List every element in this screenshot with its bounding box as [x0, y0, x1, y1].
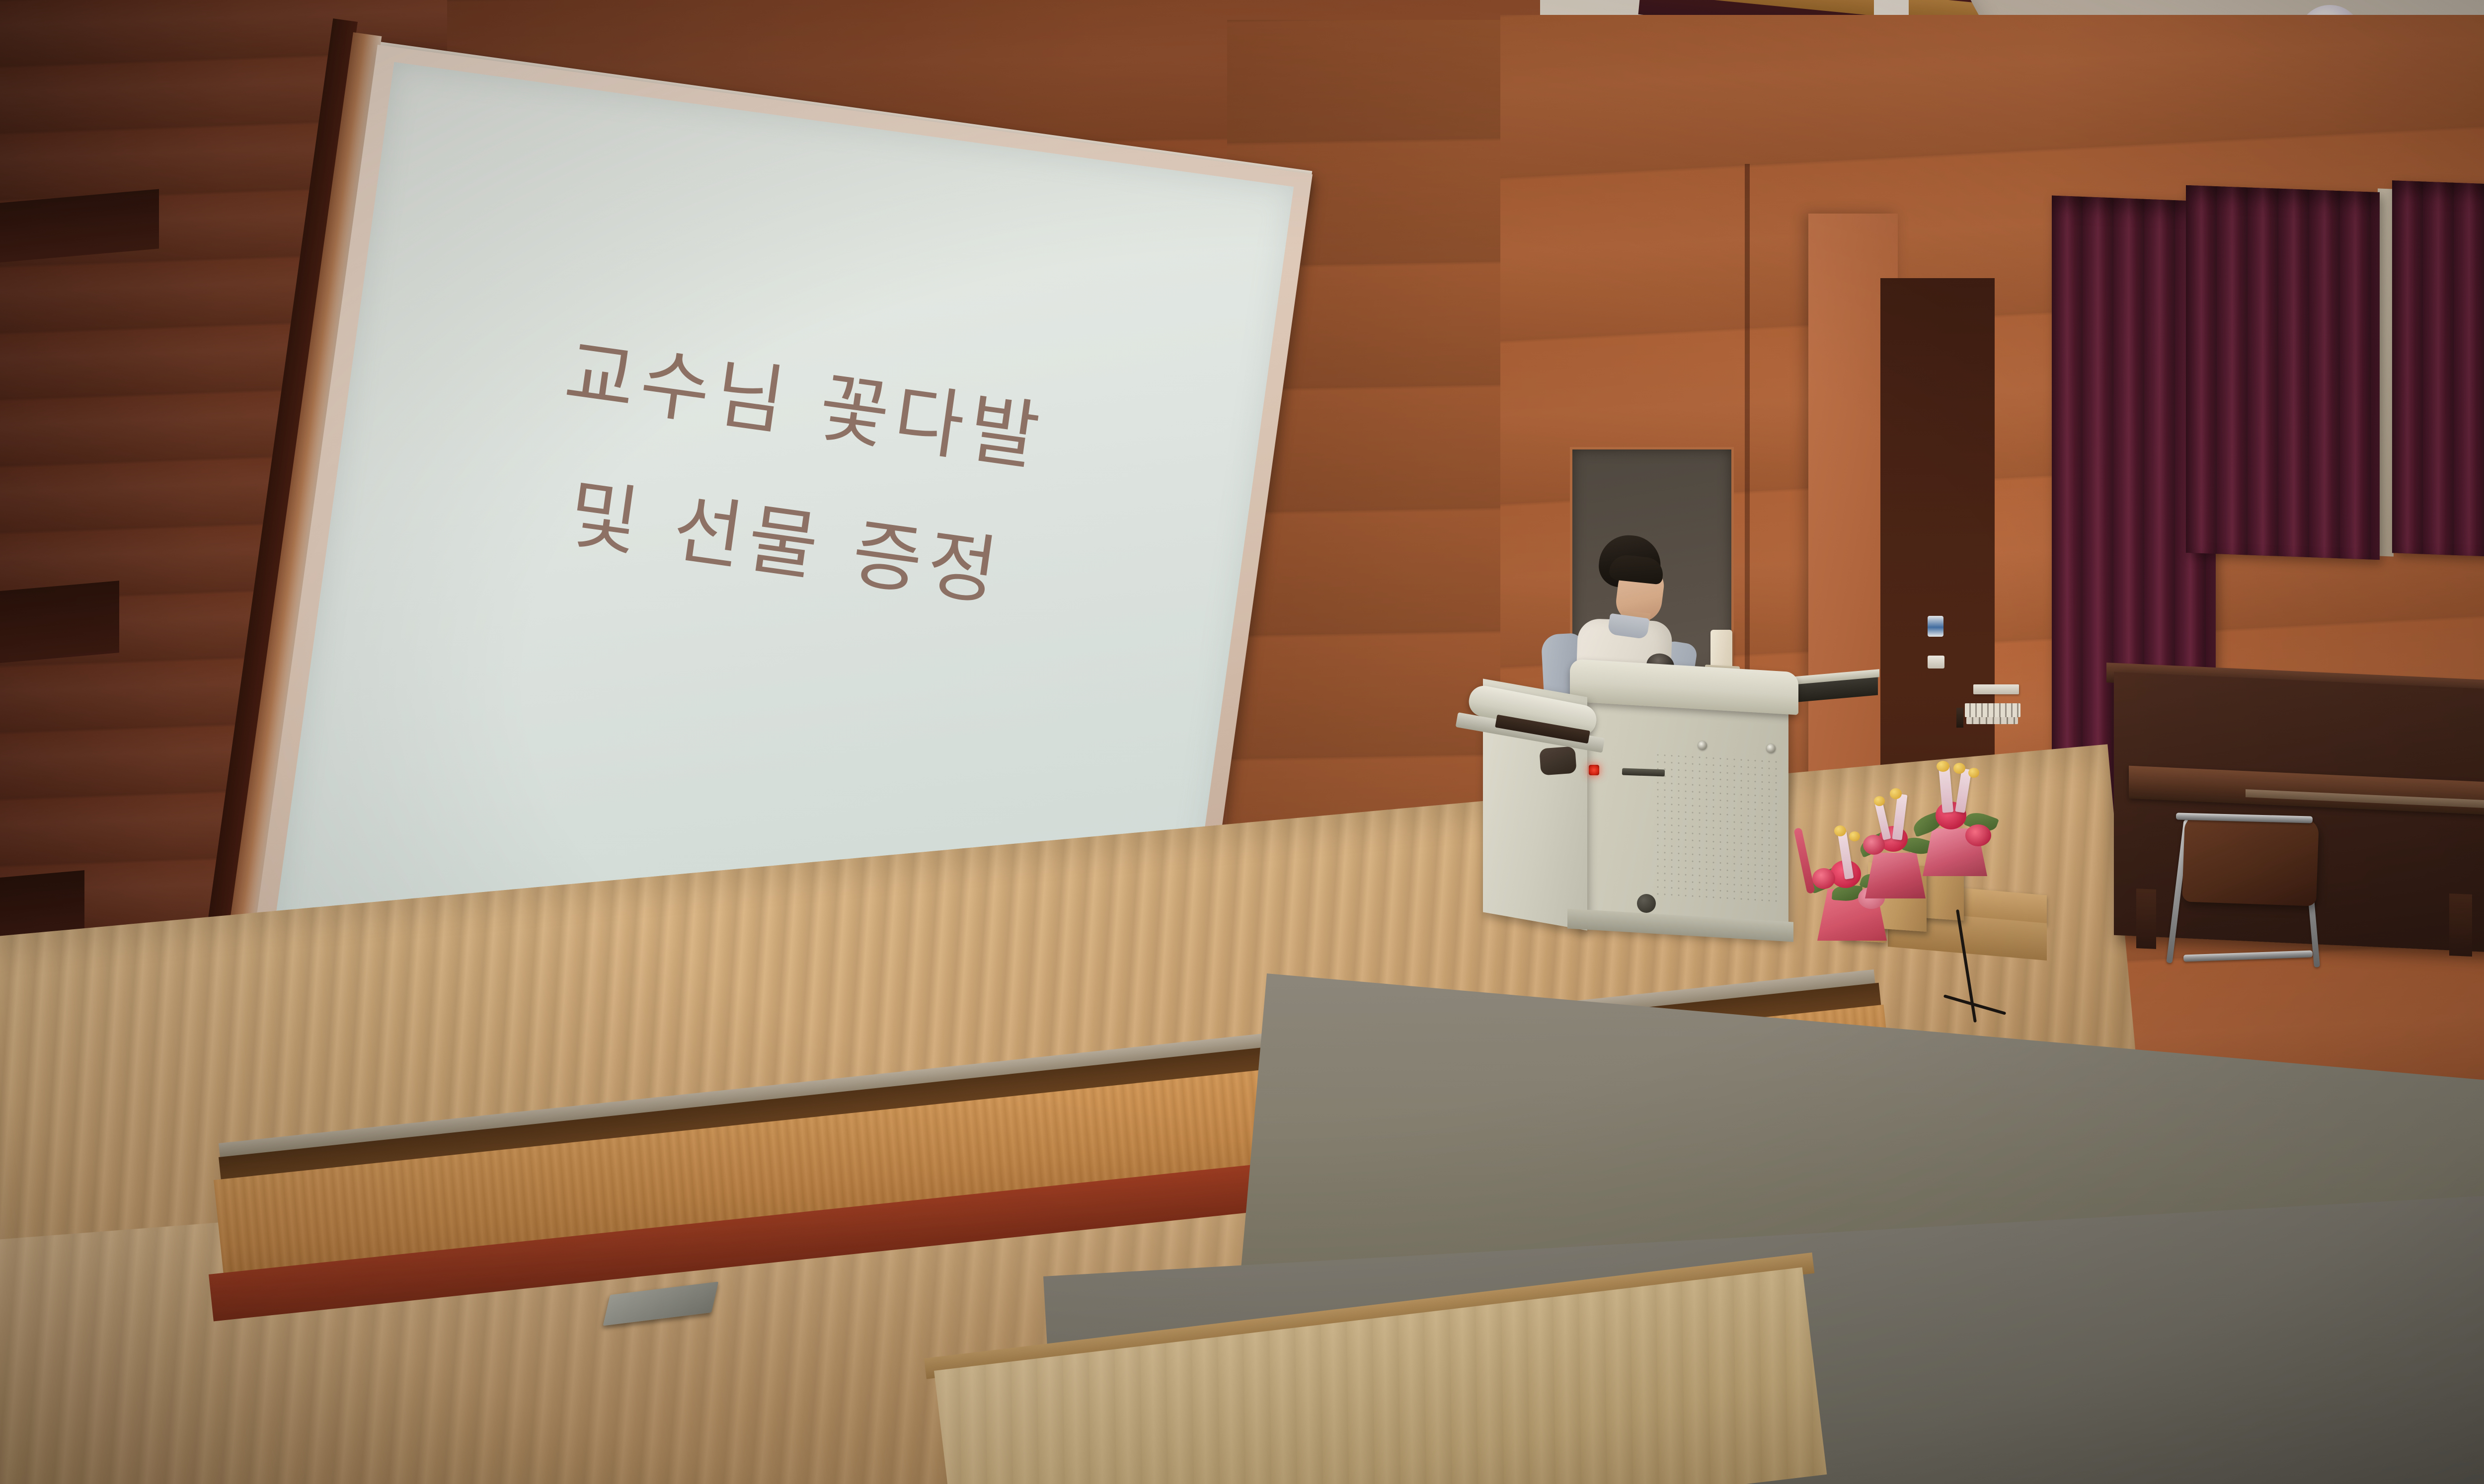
- light-switch-panel[interactable]: [1973, 684, 2019, 694]
- bouquet-flower: [1863, 835, 1885, 855]
- piano-chair[interactable]: [2182, 815, 2319, 906]
- piano-leg: [2449, 893, 2472, 957]
- piano-leg: [2136, 889, 2156, 949]
- bouquet-gold-tip: [1874, 796, 1885, 806]
- curtain-panel[interactable]: [2186, 185, 2380, 560]
- auditorium-photo-scene: 교수님 꽃다발 및 선물 증정: [0, 0, 2484, 1484]
- podium-screw-icon: [1767, 744, 1776, 753]
- flower-bouquet[interactable]: [1906, 760, 2010, 884]
- curtain-panel[interactable]: [2392, 180, 2484, 560]
- slide-text-block: 교수님 꽃다발 및 선물 증정: [326, 274, 1264, 675]
- light-switch-row[interactable]: [1966, 717, 2018, 724]
- podium-handle[interactable]: [1622, 768, 1665, 777]
- bouquet-flower: [1965, 824, 1991, 846]
- light-switch-row[interactable]: [1965, 703, 2020, 717]
- podium-knob[interactable]: [1637, 894, 1656, 913]
- water-bottle-icon[interactable]: [1710, 630, 1732, 668]
- bouquet-gold-tip: [1890, 788, 1902, 799]
- wall-recess-slot: [0, 870, 84, 938]
- power-indicator-led: [1589, 765, 1599, 775]
- bouquet-gold-tip: [1968, 768, 1979, 778]
- wall-sign-icon: [1928, 616, 1943, 637]
- wall-recess-slot: [0, 581, 119, 664]
- bouquet-gold-tip: [1937, 761, 1949, 772]
- window-gap: [2378, 188, 2394, 556]
- bouquet-gold-tip: [1953, 763, 1965, 774]
- podium-screw-icon: [1698, 741, 1707, 750]
- wall-marker-icon: [1956, 708, 1963, 728]
- presenter-left-hand: [1539, 746, 1577, 776]
- wall-plate-icon: [1928, 656, 1944, 668]
- bouquet-flower: [1812, 868, 1835, 889]
- bouquet-gold-tip: [1834, 825, 1846, 836]
- podium-perforation: [1654, 751, 1779, 903]
